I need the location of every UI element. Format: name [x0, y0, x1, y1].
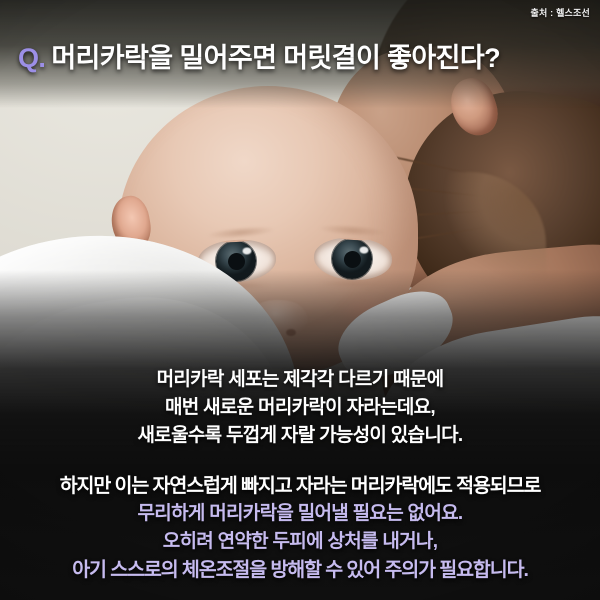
body-line: 아기 스스로의 체온조절을 방해할 수 있어 주의가 필요합니다. — [0, 556, 600, 584]
body-line: 머리카락 세포는 제각각 다르기 때문에 — [0, 366, 600, 394]
source-credit: 출처 : 헬스조선 — [531, 6, 590, 19]
paragraph-2: 하지만 이는 자연스럽게 빠지고 자라는 머리카락에도 적용되므로 무리하게 머… — [0, 472, 600, 584]
paragraph-1: 머리카락 세포는 제각각 다르기 때문에 매번 새로운 머리카락이 자라는데요,… — [0, 366, 600, 450]
page-title: Q.머리카락을 밀어주면 머릿결이 좋아진다? — [18, 36, 500, 75]
body-line: 새로울수록 두껍게 자랄 가능성이 있습니다. — [0, 422, 600, 450]
body-line: 매번 새로운 머리카락이 자라는데요, — [0, 394, 600, 422]
health-info-card: 출처 : 헬스조선 Q.머리카락을 밀어주면 머릿결이 좋아진다? 머리카락 세… — [0, 0, 600, 600]
body-line: 하지만 이는 자연스럽게 빠지고 자라는 머리카락에도 적용되므로 — [0, 472, 600, 500]
body-line: 무리하게 머리카락을 밀어낼 필요는 없어요. — [0, 500, 600, 528]
body-line: 오히려 연약한 두피에 상처를 내거나, — [0, 528, 600, 556]
question-marker: Q. — [18, 43, 45, 73]
question-text: 머리카락을 밀어주면 머릿결이 좋아진다? — [51, 43, 500, 73]
body-text-block: 머리카락 세포는 제각각 다르기 때문에 매번 새로운 머리카락이 자라는데요,… — [0, 366, 600, 584]
